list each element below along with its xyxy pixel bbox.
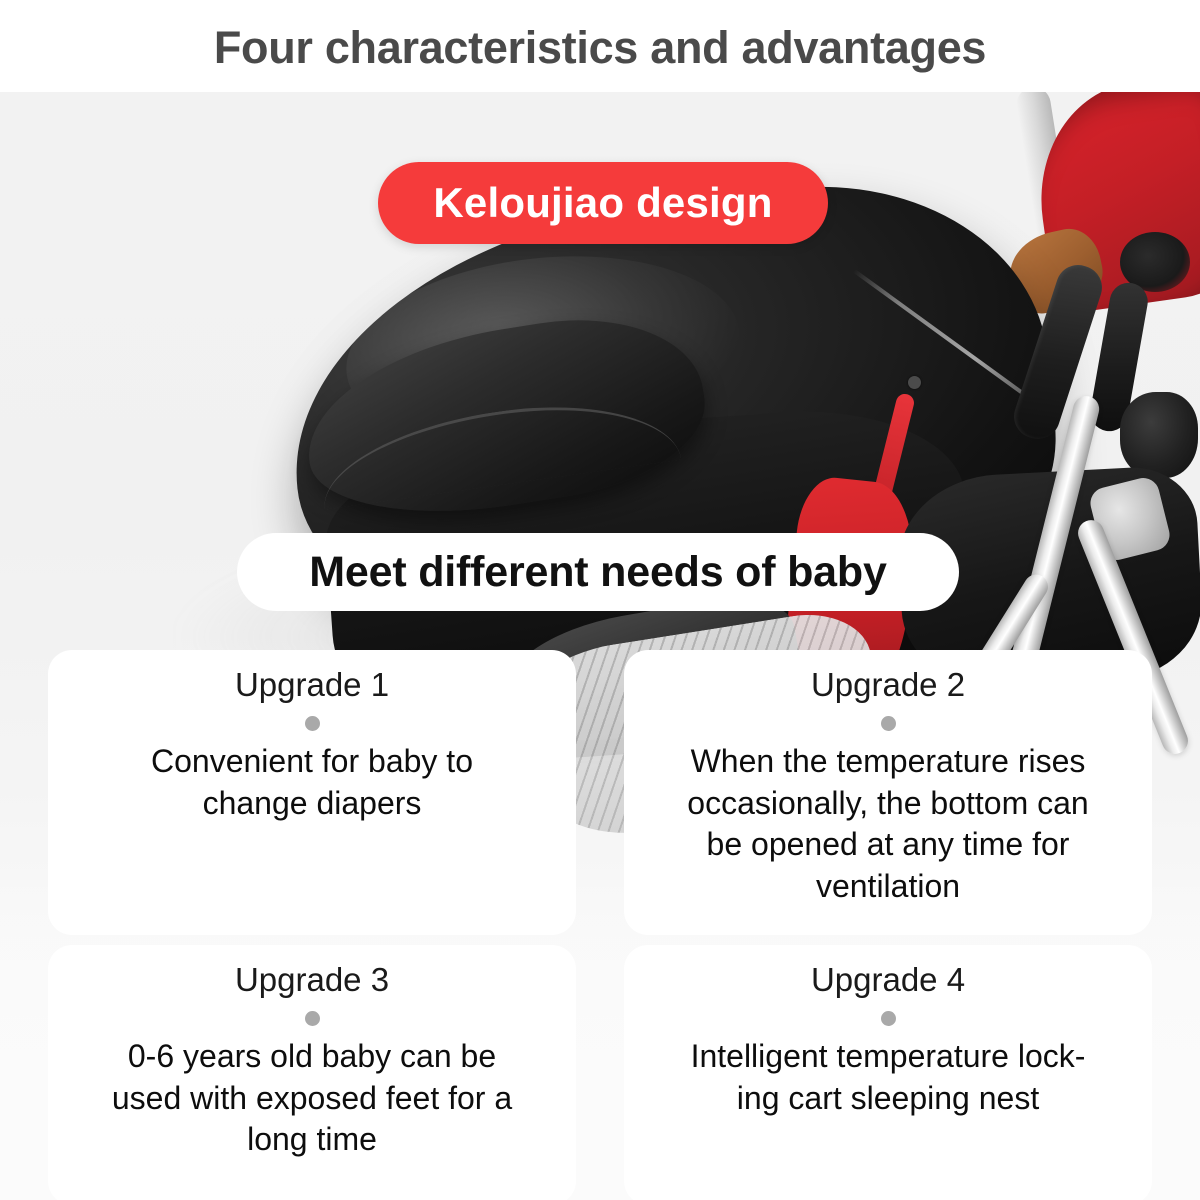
page-title: Four characteristics and advantages: [214, 25, 986, 70]
upgrade-card-body: Convenient for baby to change diapers: [72, 741, 552, 824]
upgrade-card-title: Upgrade 1: [72, 666, 552, 704]
upgrade-card-body: 0-6 years old baby can be used with expo…: [72, 1036, 552, 1161]
upgrade-card: Upgrade 4 Intelligent temperature lock- …: [624, 945, 1152, 1200]
upgrade-card-body: When the temperature rises occasionally,…: [648, 741, 1128, 907]
design-badge-label: Keloujiao design: [433, 182, 772, 224]
separator-dot-icon: [881, 716, 896, 731]
upgrade-card-title: Upgrade 2: [648, 666, 1128, 704]
header-band: Four characteristics and advantages: [0, 0, 1200, 92]
upgrade-card: Upgrade 2 When the temperature rises occ…: [624, 650, 1152, 935]
upgrade-card-grid: Upgrade 1 Convenient for baby to change …: [48, 650, 1152, 1200]
separator-dot-icon: [305, 1011, 320, 1026]
needs-banner: Meet different needs of baby: [237, 533, 959, 611]
product-infographic: Four characteristics and advantages Kelo…: [0, 0, 1200, 1200]
upgrade-card-title: Upgrade 4: [648, 961, 1128, 999]
zipper-pull-icon: [908, 376, 921, 389]
upgrade-card-title: Upgrade 3: [72, 961, 552, 999]
separator-dot-icon: [881, 1011, 896, 1026]
design-badge: Keloujiao design: [378, 162, 828, 244]
separator-dot-icon: [305, 716, 320, 731]
needs-banner-label: Meet different needs of baby: [309, 551, 886, 594]
harness-buckle: [1120, 392, 1198, 478]
upgrade-card-body: Intelligent temperature lock- ing cart s…: [648, 1036, 1128, 1119]
upgrade-card: Upgrade 3 0-6 years old baby can be used…: [48, 945, 576, 1200]
upgrade-card: Upgrade 1 Convenient for baby to change …: [48, 650, 576, 935]
